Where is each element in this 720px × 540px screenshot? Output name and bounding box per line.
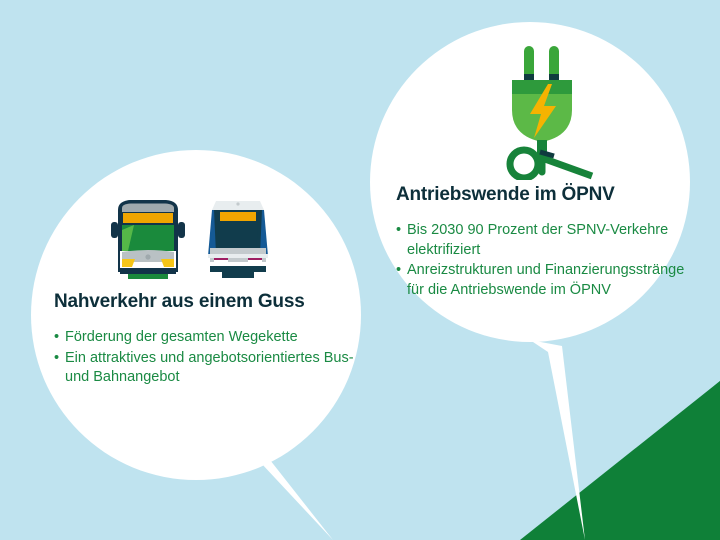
plug-pin-left-base bbox=[524, 74, 534, 80]
infographic-canvas: Nahverkehr aus einem Guss • Förderung de… bbox=[0, 0, 720, 540]
list-item: • Ein attraktives und angebotsorientiert… bbox=[54, 349, 354, 388]
bullet-marker-icon: • bbox=[396, 261, 401, 281]
callout-nahverkehr: Nahverkehr aus einem Guss • Förderung de… bbox=[54, 290, 354, 389]
train-headlight-right bbox=[248, 260, 262, 266]
speech-bubble-right-tail bbox=[530, 340, 585, 540]
electric-plug-icon bbox=[492, 44, 596, 180]
train-front-icon bbox=[198, 196, 278, 280]
list-item-label: Förderung der gesamten Wegekette bbox=[65, 329, 298, 345]
plug-pin-right-base bbox=[549, 74, 559, 80]
list-item: • Anreizstrukturen und Finanzierungssträ… bbox=[396, 261, 696, 300]
bullet-marker-icon: • bbox=[54, 349, 59, 369]
bus-mirror-left bbox=[111, 222, 118, 238]
callout-nahverkehr-bullets: • Förderung der gesamten Wegekette • Ein… bbox=[54, 328, 354, 388]
bus-bottom-bar bbox=[120, 268, 176, 274]
train-windshield bbox=[218, 223, 258, 248]
train-lower-stripe bbox=[208, 254, 268, 258]
bus-roof bbox=[122, 204, 174, 213]
callout-nahverkehr-heading: Nahverkehr aus einem Guss bbox=[54, 290, 354, 314]
train-bottom-bar bbox=[210, 266, 266, 272]
train-destination-sign bbox=[220, 212, 256, 221]
bus-ground-shadow bbox=[128, 274, 168, 279]
train-headlight-left bbox=[214, 260, 228, 266]
bullet-marker-icon: • bbox=[396, 221, 401, 241]
train-roof-vent bbox=[236, 202, 239, 205]
plug-cable-tail bbox=[542, 158, 592, 176]
bus-emblem bbox=[145, 254, 150, 259]
list-item-label: Ein attraktives und angebotsorientiertes… bbox=[65, 350, 354, 386]
plug-body-top-band bbox=[512, 80, 572, 94]
bus-front-icon bbox=[108, 196, 188, 280]
train-coupler bbox=[222, 272, 254, 278]
bus-front-icon-svg bbox=[108, 196, 188, 280]
bus-destination-sign bbox=[123, 213, 173, 223]
callout-antriebswende-heading: Antriebswende im ÖPNV bbox=[396, 183, 696, 207]
plug-cable-joint bbox=[538, 154, 542, 172]
callout-antriebswende: Antriebswende im ÖPNV • Bis 2030 90 Proz… bbox=[396, 183, 696, 301]
list-item-label: Bis 2030 90 Prozent der SPNV-Verkehre el… bbox=[407, 222, 668, 258]
list-item-label: Anreizstrukturen und Finanzierungssträng… bbox=[407, 262, 684, 298]
plug-cable-loop bbox=[510, 150, 538, 178]
electric-plug-icon-svg bbox=[492, 44, 596, 180]
list-item: • Bis 2030 90 Prozent der SPNV-Verkehre … bbox=[396, 221, 696, 260]
bullet-marker-icon: • bbox=[54, 328, 59, 348]
list-item: • Förderung der gesamten Wegekette bbox=[54, 328, 354, 348]
callout-antriebswende-bullets: • Bis 2030 90 Prozent der SPNV-Verkehre … bbox=[396, 221, 696, 300]
bus-mirror-right bbox=[178, 222, 185, 238]
train-front-icon-svg bbox=[198, 196, 278, 280]
